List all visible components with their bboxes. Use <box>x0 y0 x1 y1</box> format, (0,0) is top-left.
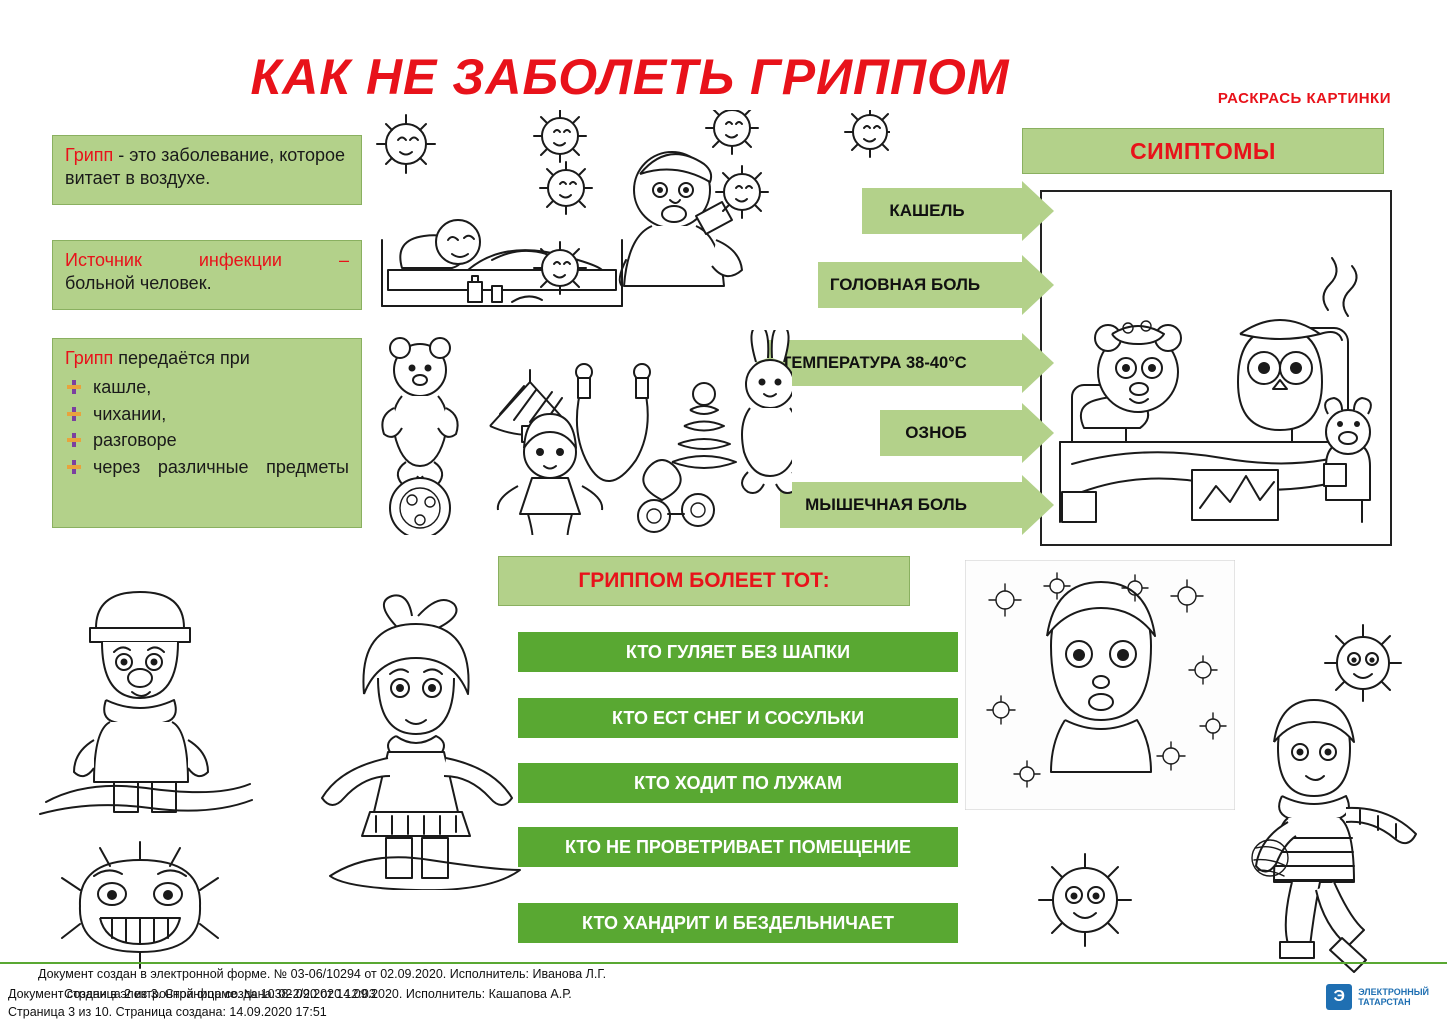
logo-mark-icon: Э <box>1326 984 1352 1010</box>
transmission-item-label: через различные предметы <box>93 457 349 477</box>
who-gets-sick-header: ГРИППОМ БОЛЕЕТ ТОТ: <box>498 556 910 606</box>
list-item: через различные предметы <box>65 456 349 479</box>
symptom-arrow-muscle-pain: МЫШЕЧНАЯ БОЛЬ <box>780 482 1022 528</box>
illustration-girl-ice <box>300 590 530 890</box>
page-title: КАК НЕ ЗАБОЛЕТЬ ГРИППОМ <box>180 48 1080 106</box>
info-box-transmission: Грипп передаётся при кашле, чихании, раз… <box>52 338 362 528</box>
illustration-virus-small <box>1030 845 1140 955</box>
illustration-boy-hat <box>36 570 256 820</box>
who-gets-sick-item-4: КТО НЕ ПРОВЕТРИВАЕТ ПОМЕЩЕНИЕ <box>518 827 958 867</box>
info-box-definition: Грипп - это заболевание, которое витает … <box>52 135 362 205</box>
illustration-toys <box>372 330 792 535</box>
info-box-source: Источник инфекции – больной человек. <box>52 240 362 310</box>
cross-bullet-icon <box>67 433 81 447</box>
transmission-lead: Грипп <box>65 348 113 368</box>
list-item: кашле, <box>65 376 349 399</box>
list-item: чихании, <box>65 403 349 426</box>
footer-line-3: Страница 2 из 3. Страница создана: 02.09… <box>64 986 376 1003</box>
symptoms-header: СИМПТОМЫ <box>1022 128 1384 174</box>
electronic-tatarstan-logo: Э ЭЛЕКТРОННЫЙ ТАТАРСТАН <box>1326 982 1429 1012</box>
transmission-list: кашле, чихании, разговоре через различны… <box>65 376 349 479</box>
illustration-virus-monster <box>50 840 230 970</box>
transmission-item-label: чихании, <box>93 404 166 424</box>
illustration-face-virus <box>965 560 1235 810</box>
info-box-source-text: больной человек. <box>65 272 349 295</box>
illustration-virus-cluster <box>370 110 890 300</box>
transmission-item-label: кашле, <box>93 377 151 397</box>
footer-divider <box>0 962 1447 964</box>
cross-bullet-icon <box>67 380 81 394</box>
info-box-source-lead: Источник инфекции – <box>65 249 349 272</box>
cross-bullet-icon <box>67 407 81 421</box>
footer-line-1: Документ создан в электронной форме. № 0… <box>38 966 606 983</box>
symptom-arrow-temperature: ТЕМПЕРАТУРА 38-40°С <box>756 340 1022 386</box>
list-item: разговоре <box>65 429 349 452</box>
symptoms-illustration <box>1040 190 1392 546</box>
transmission-item-label: разговоре <box>93 430 177 450</box>
poster-page: КАК НЕ ЗАБОЛЕТЬ ГРИППОМ РАСКРАСЬ КАРТИНК… <box>0 0 1447 1024</box>
who-gets-sick-item-1: КТО ГУЛЯЕТ БЕЗ ШАПКИ <box>518 632 958 672</box>
symptom-arrow-chills: ОЗНОБ <box>880 410 1022 456</box>
transmission-text: передаётся при <box>113 348 250 368</box>
illustration-virus-small-2 <box>1318 618 1408 708</box>
illustration-running-boy <box>1230 690 1430 980</box>
info-box-transmission-title: Грипп передаётся при <box>65 347 349 370</box>
cross-bullet-icon <box>67 460 81 474</box>
coloring-note: РАСКРАСЬ КАРТИНКИ <box>1218 90 1391 107</box>
who-gets-sick-item-5: КТО ХАНДРИТ И БЕЗДЕЛЬНИЧАЕТ <box>518 903 958 943</box>
who-gets-sick-item-3: КТО ХОДИТ ПО ЛУЖАМ <box>518 763 958 803</box>
logo-line-1: ЭЛЕКТРОННЫЙ <box>1358 987 1429 997</box>
footer-line-4: Страница 3 из 10. Страница создана: 14.0… <box>8 1004 327 1021</box>
logo-text: ЭЛЕКТРОННЫЙ ТАТАРСТАН <box>1358 987 1429 1008</box>
logo-line-2: ТАТАРСТАН <box>1358 997 1429 1007</box>
who-gets-sick-item-2: КТО ЕСТ СНЕГ И СОСУЛЬКИ <box>518 698 958 738</box>
info-box-definition-lead: Грипп <box>65 145 113 165</box>
